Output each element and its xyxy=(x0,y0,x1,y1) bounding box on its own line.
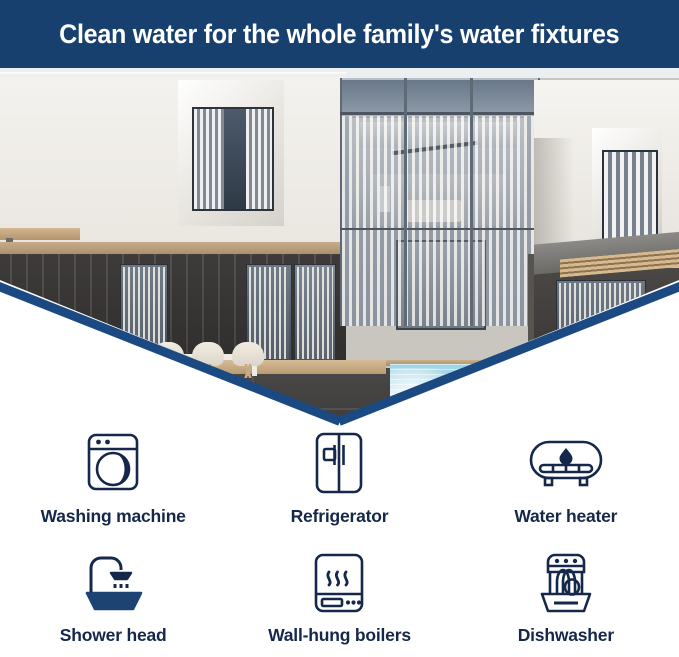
atrium-clerestory xyxy=(342,80,534,114)
fixture-label: Dishwasher xyxy=(518,625,614,646)
page-title: Clean water for the whole family's water… xyxy=(59,19,619,50)
chair-legs-1 xyxy=(113,364,143,378)
fixture-label: Refrigerator xyxy=(291,506,389,527)
atrium-head-mullion xyxy=(340,112,536,115)
water-heater-icon xyxy=(523,431,609,497)
fixture-item-wall-hung-boiler: Wall-hung boilers xyxy=(226,539,452,657)
fixture-label: Shower head xyxy=(60,625,167,646)
stone-paving xyxy=(0,368,394,420)
atrium-mullion-1 xyxy=(404,78,407,326)
fixture-label: Water heater xyxy=(514,506,617,527)
facade-shadow-right xyxy=(534,138,574,252)
wall-hung-boiler-icon xyxy=(306,550,372,616)
curtain-left-a xyxy=(194,109,224,209)
dishwasher-icon xyxy=(530,550,602,616)
fixture-item-washing-machine: Washing machine xyxy=(0,420,226,539)
fixture-item-water-heater: Water heater xyxy=(453,420,679,539)
curtain-right xyxy=(604,152,656,242)
chair-4 xyxy=(232,342,264,366)
sheer-curtain-3 xyxy=(297,267,333,359)
fixture-item-dishwasher: Dishwasher xyxy=(453,539,679,657)
washing-machine-icon xyxy=(77,431,149,497)
window-left xyxy=(192,107,274,211)
fixture-label: Washing machine xyxy=(41,506,186,527)
facade-left xyxy=(0,76,346,244)
header-banner: Clean water for the whole family's water… xyxy=(0,0,679,68)
atrium-mullion-2 xyxy=(470,78,473,326)
fixture-item-refrigerator: Refrigerator xyxy=(226,420,452,539)
atrium-mid-mullion xyxy=(340,228,536,230)
window-right xyxy=(602,150,658,244)
fixture-item-shower-head: Shower head xyxy=(0,539,226,657)
hero-photo xyxy=(0,68,679,420)
hero-photo-image xyxy=(0,68,679,420)
fixture-label: Wall-hung boilers xyxy=(268,625,411,646)
infographic-page: Clean water for the whole family's water… xyxy=(0,0,679,657)
window-glass-left xyxy=(224,109,246,209)
chair-legs-2 xyxy=(153,364,183,378)
paving-joint-1 xyxy=(140,368,142,420)
fixture-icon-grid: Washing machine Refrigerator xyxy=(0,420,679,657)
refrigerator-icon xyxy=(305,431,373,497)
paving-joint-3 xyxy=(0,408,394,410)
shower-head-icon xyxy=(75,550,151,616)
atrium-sheer-curtains xyxy=(342,116,534,326)
glass-door-3 xyxy=(294,264,336,362)
curtain-left-b xyxy=(246,109,272,209)
